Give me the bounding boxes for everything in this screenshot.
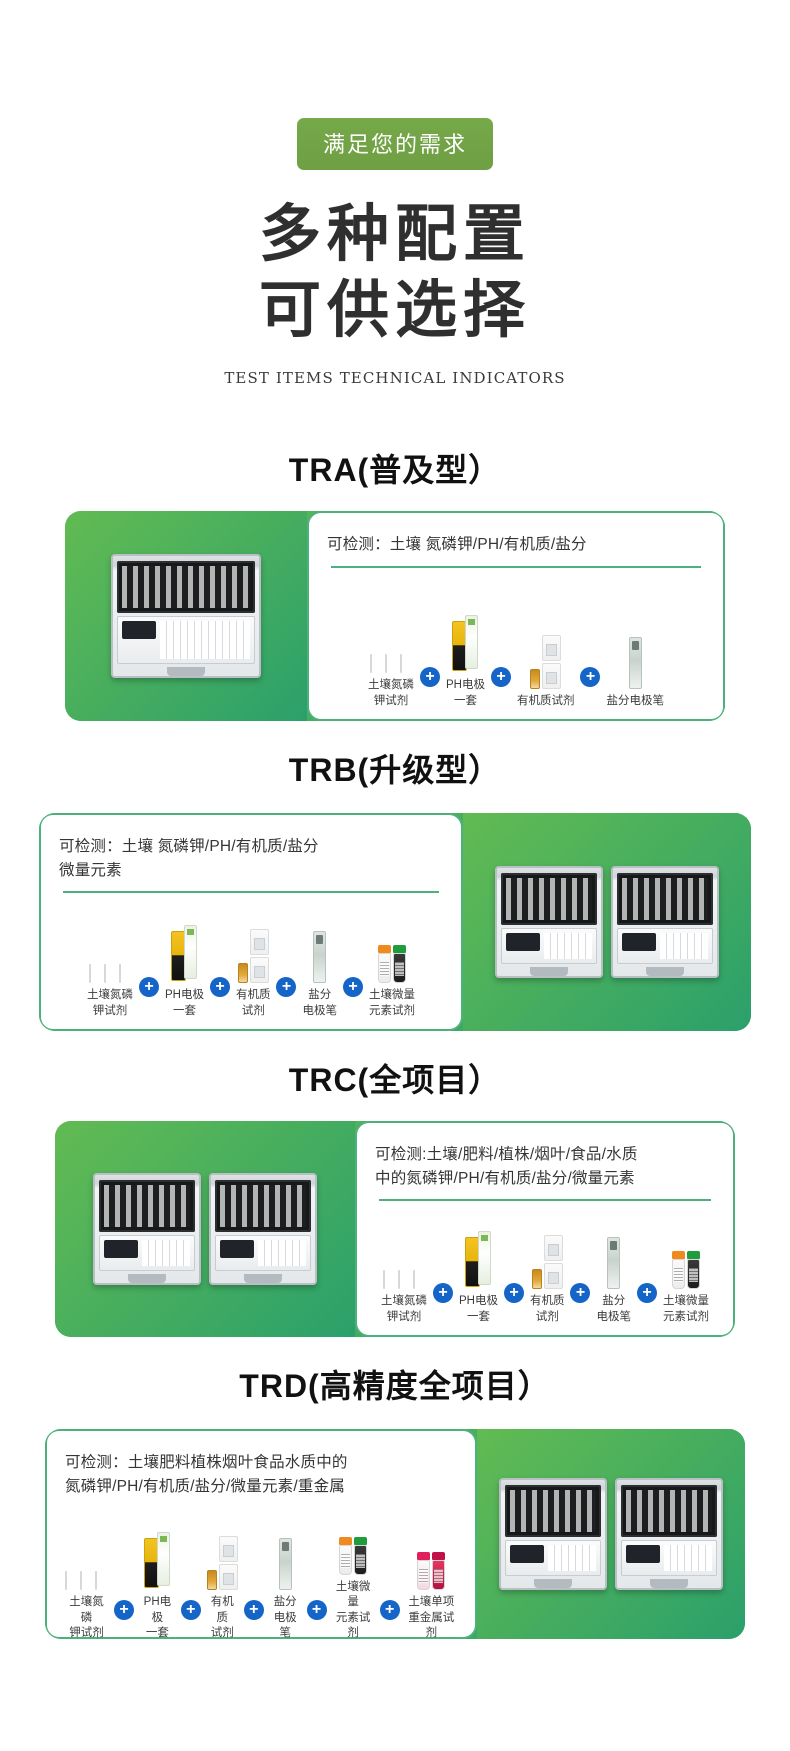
item-caption: 有机质 试剂 bbox=[236, 988, 271, 1019]
item-caption: 有机质试剂 bbox=[517, 694, 575, 710]
case-tray bbox=[505, 1540, 601, 1576]
case-lid bbox=[505, 1485, 601, 1537]
case-handle bbox=[646, 967, 684, 976]
item-caption: 盐分 电极笔 bbox=[270, 1595, 301, 1639]
list-item[interactable]: PH电极 一套 bbox=[140, 1528, 175, 1639]
product-info-tra: 可检测：土壤 氮磷钾/PH/有机质/盐分 土壤氮磷 钾试剂 + PH电极 一套 … bbox=[307, 511, 725, 721]
item-caption: 土壤氮磷 钾试剂 bbox=[368, 678, 414, 709]
case-tray bbox=[117, 616, 255, 664]
list-item[interactable]: PH电极 一套 bbox=[459, 1227, 498, 1325]
list-item[interactable]: 盐分 电极笔 bbox=[596, 1227, 631, 1325]
item-caption: 有机质 试剂 bbox=[207, 1595, 238, 1639]
detect-text-trc: 可检测:土壤/肥料/植株/烟叶/食品/水质 中的氮磷钾/PH/有机质/盐分/微量… bbox=[375, 1143, 715, 1190]
aluminium-case-icon bbox=[495, 866, 603, 978]
salinity-pen-icon bbox=[313, 921, 326, 983]
list-item[interactable]: 土壤单项 重金属试剂 bbox=[406, 1528, 457, 1639]
plus-icon: + bbox=[181, 1600, 201, 1620]
ph-electrode-icon bbox=[452, 611, 478, 673]
plus-icon: + bbox=[114, 1600, 134, 1620]
organic-reagent-icon bbox=[207, 1528, 238, 1590]
list-item[interactable]: 土壤微量 元素试剂 bbox=[663, 1227, 709, 1325]
plus-icon: + bbox=[580, 667, 600, 687]
item-caption: 盐分 电极笔 bbox=[596, 1294, 631, 1325]
list-item[interactable]: 土壤氮磷 钾试剂 bbox=[87, 921, 133, 1019]
detect-text-trb: 可检测：土壤 氮磷钾/PH/有机质/盐分 微量元素 bbox=[59, 835, 443, 882]
case-photo-icon bbox=[499, 1478, 723, 1590]
aluminium-case-icon bbox=[93, 1173, 201, 1285]
hero-header: 满足您的需求 多种配置 可供选择 TEST ITEMS TECHNICAL IN… bbox=[0, 0, 790, 387]
plus-icon: + bbox=[637, 1283, 657, 1303]
list-item[interactable]: 土壤氮磷 钾试剂 bbox=[368, 611, 414, 709]
salinity-pen-icon bbox=[607, 1227, 620, 1289]
item-caption: 土壤氮磷 钾试剂 bbox=[87, 988, 133, 1019]
item-caption: 土壤微量 元素试剂 bbox=[333, 1580, 374, 1640]
case-tray bbox=[501, 928, 597, 964]
product-card-trc: 可检测:土壤/肥料/植株/烟叶/食品/水质 中的氮磷钾/PH/有机质/盐分/微量… bbox=[55, 1121, 735, 1337]
product-card-trb: 可检测：土壤 氮磷钾/PH/有机质/盐分 微量元素 土壤氮磷 钾试剂 + PH电… bbox=[39, 813, 751, 1031]
list-item[interactable]: 土壤微量 元素试剂 bbox=[333, 1513, 374, 1640]
plus-icon: + bbox=[210, 977, 230, 997]
item-caption: 土壤单项 重金属试剂 bbox=[406, 1595, 457, 1639]
ph-electrode-icon bbox=[144, 1528, 170, 1590]
salinity-pen-icon bbox=[629, 627, 642, 689]
plus-icon: + bbox=[491, 667, 511, 687]
list-item[interactable]: PH电极 一套 bbox=[165, 921, 204, 1019]
ph-electrode-icon bbox=[171, 921, 197, 983]
plus-icon: + bbox=[276, 977, 296, 997]
list-item[interactable]: 土壤氮磷 钾试剂 bbox=[381, 1227, 427, 1325]
product-photo-trd bbox=[477, 1429, 745, 1639]
item-list-trc: 土壤氮磷 钾试剂 + PH电极 一套 + 有机质 试剂 + bbox=[375, 1201, 715, 1326]
heavy-metal-icon bbox=[417, 1528, 445, 1590]
salinity-pen-icon bbox=[279, 1528, 292, 1590]
reagent-bottles-icon bbox=[383, 1227, 426, 1289]
section-heading-tra: TRA(普及型） bbox=[0, 445, 790, 491]
case-photo-icon bbox=[93, 1173, 317, 1285]
product-info-trc: 可检测:土壤/肥料/植株/烟叶/食品/水质 中的氮磷钾/PH/有机质/盐分/微量… bbox=[355, 1121, 735, 1337]
list-item[interactable]: 有机质 试剂 bbox=[207, 1528, 238, 1639]
case-handle bbox=[128, 1274, 166, 1283]
page-title: 多种配置 可供选择 bbox=[0, 196, 790, 347]
case-handle bbox=[650, 1579, 688, 1588]
item-caption: PH电极 一套 bbox=[165, 988, 204, 1019]
item-list-trd: 土壤氮磷 钾试剂 + PH电极 一套 + 有机质 试剂 + bbox=[65, 1507, 457, 1640]
page-subtitle: TEST ITEMS TECHNICAL INDICATORS bbox=[0, 369, 790, 387]
organic-reagent-icon bbox=[530, 627, 561, 689]
section-heading-trd: TRD(高精度全项目） bbox=[0, 1361, 790, 1407]
aluminium-case-icon bbox=[499, 1478, 607, 1590]
list-item[interactable]: PH电极 一套 bbox=[446, 611, 485, 709]
product-photo-tra bbox=[65, 511, 307, 721]
case-lid bbox=[621, 1485, 717, 1537]
plus-icon: + bbox=[244, 1600, 264, 1620]
plus-icon: + bbox=[343, 977, 363, 997]
list-item[interactable]: 有机质 试剂 bbox=[530, 1227, 565, 1325]
list-item[interactable]: 盐分 电极笔 bbox=[270, 1528, 301, 1639]
reagent-bottles-icon bbox=[65, 1528, 108, 1590]
page-title-line1: 多种配置 bbox=[259, 197, 531, 270]
list-item[interactable]: 有机质 试剂 bbox=[236, 921, 271, 1019]
item-caption: 盐分 电极笔 bbox=[302, 988, 337, 1019]
detect-text-tra: 可检测：土壤 氮磷钾/PH/有机质/盐分 bbox=[327, 533, 705, 556]
plus-icon: + bbox=[307, 1600, 327, 1620]
case-tray bbox=[99, 1235, 195, 1271]
plus-icon: + bbox=[433, 1283, 453, 1303]
organic-reagent-icon bbox=[532, 1227, 563, 1289]
product-info-trd: 可检测：土壤肥料植株烟叶食品水质中的 氮磷钾/PH/有机质/盐分/微量元素/重金… bbox=[45, 1429, 477, 1639]
item-caption: PH电极 一套 bbox=[446, 678, 485, 709]
reagent-bottles-icon bbox=[89, 921, 132, 983]
case-handle bbox=[530, 967, 568, 976]
page-title-line2: 可供选择 bbox=[0, 272, 790, 348]
case-tray bbox=[617, 928, 713, 964]
plus-icon: + bbox=[504, 1283, 524, 1303]
section-heading-trc: TRC(全项目） bbox=[0, 1055, 790, 1101]
item-caption: 土壤氮磷 钾试剂 bbox=[381, 1294, 427, 1325]
item-caption: 盐分电极笔 bbox=[606, 694, 664, 710]
case-handle bbox=[244, 1274, 282, 1283]
case-lid bbox=[501, 873, 597, 925]
item-caption: 有机质 试剂 bbox=[530, 1294, 565, 1325]
aluminium-case-icon bbox=[111, 554, 261, 678]
list-item[interactable]: 有机质试剂 bbox=[517, 627, 575, 710]
section-heading-trb: TRB(升级型） bbox=[0, 745, 790, 791]
case-tray bbox=[215, 1235, 311, 1271]
plus-icon: + bbox=[380, 1600, 400, 1620]
item-caption: 土壤微量 元素试剂 bbox=[369, 988, 415, 1019]
aluminium-case-icon bbox=[611, 866, 719, 978]
product-photo-trc bbox=[55, 1121, 355, 1337]
ph-electrode-icon bbox=[465, 1227, 491, 1289]
item-caption: PH电极 一套 bbox=[459, 1294, 498, 1325]
list-item[interactable]: 盐分电极笔 bbox=[606, 627, 664, 710]
case-tray bbox=[621, 1540, 717, 1576]
case-photo-icon bbox=[111, 554, 261, 678]
list-item[interactable]: 土壤微量 元素试剂 bbox=[369, 921, 415, 1019]
reagent-bottles-icon bbox=[370, 611, 413, 673]
case-lid bbox=[617, 873, 713, 925]
item-list-tra: 土壤氮磷 钾试剂 + PH电极 一套 + 有机质试剂 + bbox=[327, 568, 705, 710]
case-photo-icon bbox=[495, 866, 719, 978]
item-caption: PH电极 一套 bbox=[140, 1595, 175, 1639]
product-info-trb: 可检测：土壤 氮磷钾/PH/有机质/盐分 微量元素 土壤氮磷 钾试剂 + PH电… bbox=[39, 813, 463, 1031]
product-card-tra: 可检测：土壤 氮磷钾/PH/有机质/盐分 土壤氮磷 钾试剂 + PH电极 一套 … bbox=[65, 511, 725, 721]
aluminium-case-icon bbox=[209, 1173, 317, 1285]
trace-element-icon bbox=[378, 921, 406, 983]
product-card-trd: 可检测：土壤肥料植株烟叶食品水质中的 氮磷钾/PH/有机质/盐分/微量元素/重金… bbox=[45, 1429, 745, 1639]
item-caption: 土壤微量 元素试剂 bbox=[663, 1294, 709, 1325]
plus-icon: + bbox=[139, 977, 159, 997]
aluminium-case-icon bbox=[615, 1478, 723, 1590]
trace-element-icon bbox=[339, 1513, 367, 1575]
organic-reagent-icon bbox=[238, 921, 269, 983]
product-photo-trb bbox=[463, 813, 751, 1031]
item-caption: 土壤氮磷 钾试剂 bbox=[65, 1595, 108, 1639]
plus-icon: + bbox=[570, 1283, 590, 1303]
detect-text-trd: 可检测：土壤肥料植株烟叶食品水质中的 氮磷钾/PH/有机质/盐分/微量元素/重金… bbox=[65, 1451, 457, 1498]
case-lid bbox=[99, 1180, 195, 1232]
plus-icon: + bbox=[420, 667, 440, 687]
case-handle bbox=[534, 1579, 572, 1588]
list-item[interactable]: 土壤氮磷 钾试剂 bbox=[65, 1528, 108, 1639]
case-lid bbox=[117, 561, 255, 613]
case-lid bbox=[215, 1180, 311, 1232]
hero-badge: 满足您的需求 bbox=[297, 118, 493, 170]
trace-element-icon bbox=[672, 1227, 700, 1289]
case-handle bbox=[167, 667, 205, 676]
list-item[interactable]: 盐分 电极笔 bbox=[302, 921, 337, 1019]
item-list-trb: 土壤氮磷 钾试剂 + PH电极 一套 + 有机质 试剂 + bbox=[59, 893, 443, 1020]
